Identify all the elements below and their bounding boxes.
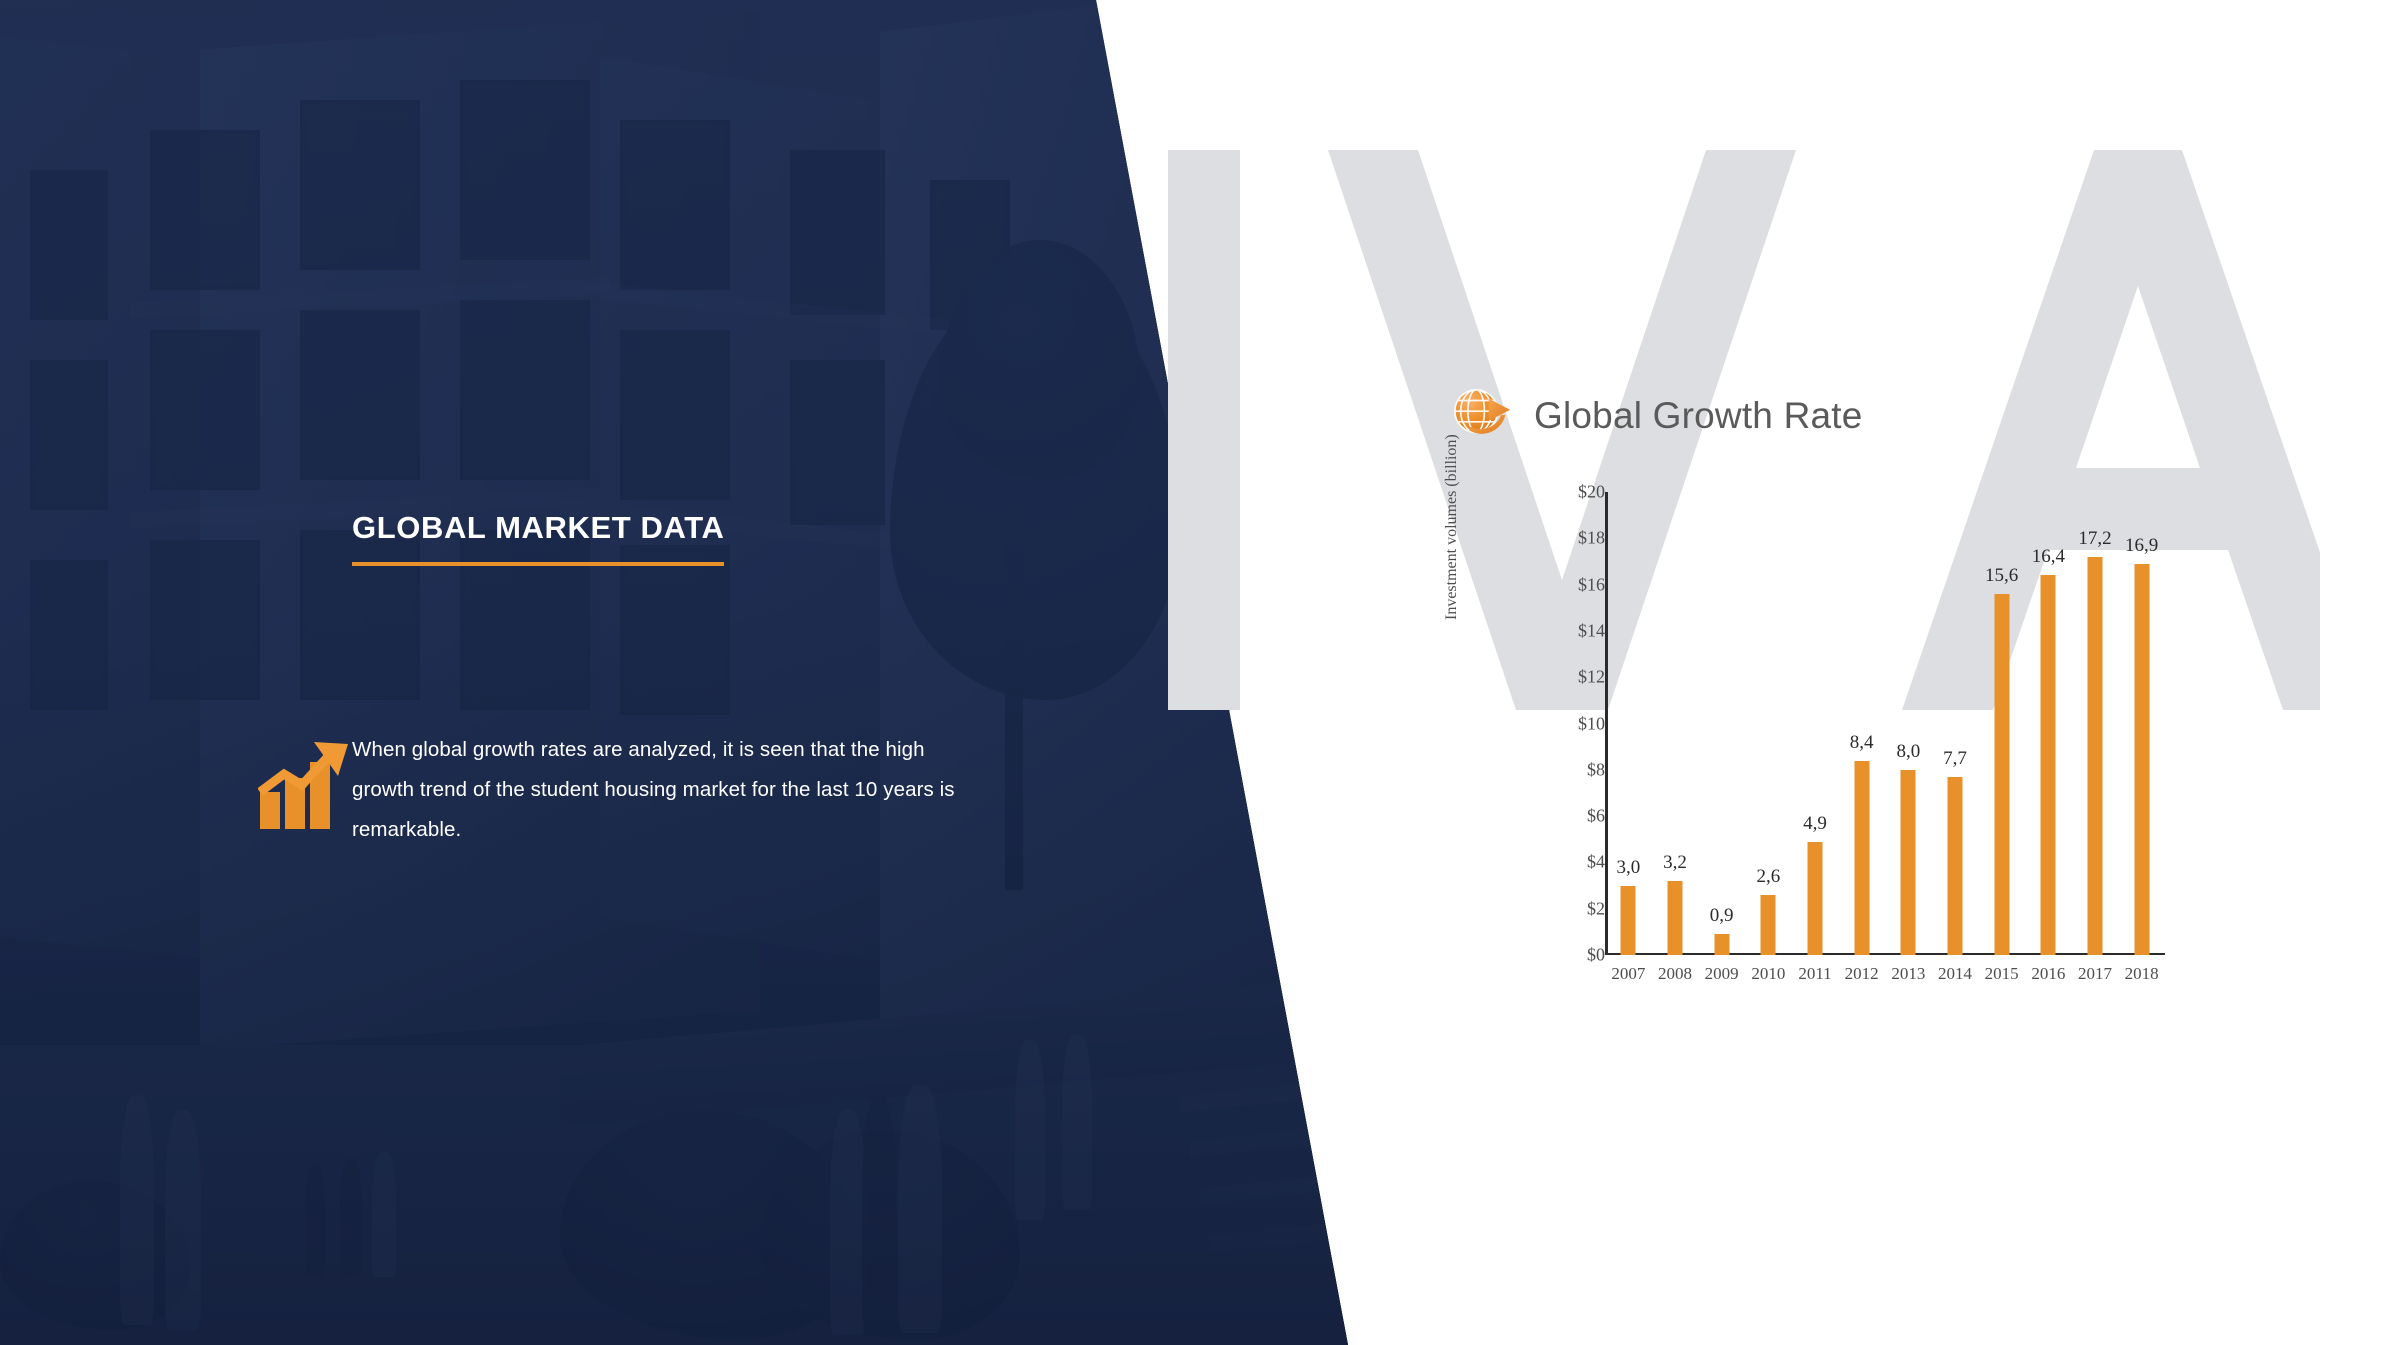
left-content-group: GLOBAL MARKET DATA When global growth ra…: [0, 0, 1100, 1345]
x-tick-label: 2007: [1611, 964, 1645, 984]
bar-slot: 4,9: [1792, 492, 1838, 955]
bar[interactable]: [1854, 761, 1869, 955]
bar-slot: 2,6: [1745, 492, 1791, 955]
bar[interactable]: [1714, 934, 1729, 955]
body-text: When global growth rates are analyzed, i…: [352, 730, 992, 850]
y-tick-label: $18: [1535, 528, 1605, 549]
x-tick-label: 2014: [1938, 964, 1972, 984]
y-tick-label: $4: [1535, 852, 1605, 873]
bar[interactable]: [1948, 777, 1963, 955]
y-tick-label: $14: [1535, 620, 1605, 641]
bar-slot: 16,9: [2119, 492, 2165, 955]
bar-value-label: 8,0: [1896, 741, 1920, 763]
bar-value-label: 15,6: [1985, 565, 2018, 587]
bar[interactable]: [2088, 557, 2103, 955]
bar-value-label: 4,9: [1803, 813, 1827, 835]
x-tick-label: 2011: [1798, 964, 1831, 984]
bar-value-label: 2,6: [1756, 866, 1780, 888]
chart-title: Global Growth Rate: [1534, 395, 1863, 437]
x-tick-label: 2017: [2078, 964, 2112, 984]
bar-value-label: 3,2: [1663, 852, 1687, 874]
body-block: When global growth rates are analyzed, i…: [352, 730, 992, 850]
bar-slot: 16,4: [2025, 492, 2071, 955]
bar-value-label: 7,7: [1943, 748, 1967, 770]
y-tick-label: $2: [1535, 898, 1605, 919]
bar-value-label: 0,9: [1710, 905, 1734, 927]
bar-slot: 7,7: [1932, 492, 1978, 955]
bar-slot: 15,6: [1979, 492, 2025, 955]
bar-slot: 8,0: [1885, 492, 1931, 955]
x-tick-label: 2015: [1985, 964, 2019, 984]
x-tick-label: 2013: [1891, 964, 1925, 984]
bar[interactable]: [1901, 770, 1916, 955]
y-tick-label: $6: [1535, 806, 1605, 827]
plot-area: 3,03,20,92,64,98,48,07,715,616,417,216,9…: [1605, 492, 2165, 955]
bar-value-label: 16,9: [2125, 535, 2158, 557]
bar[interactable]: [1668, 881, 1683, 955]
bar-value-label: 8,4: [1850, 732, 1874, 754]
y-axis-title: Investment volumes (billion): [1443, 434, 1461, 620]
y-tick-label: $16: [1535, 574, 1605, 595]
x-tick-label: 2018: [2125, 964, 2159, 984]
bar-slot: 3,0: [1605, 492, 1651, 955]
x-tick-label: 2009: [1705, 964, 1739, 984]
chart-header: Global Growth Rate: [1450, 385, 1863, 447]
bar-slot: 0,9: [1699, 492, 1745, 955]
x-tick-label: 2010: [1751, 964, 1785, 984]
bar[interactable]: [1761, 895, 1776, 955]
bar-value-label: 17,2: [2078, 528, 2111, 550]
y-tick-label: $10: [1535, 713, 1605, 734]
global-growth-bar-chart: Investment volumes (billion) $0$2$4$6$8$…: [1455, 470, 2195, 990]
y-tick-label: $20: [1535, 482, 1605, 503]
bar-value-label: 3,0: [1616, 857, 1640, 879]
bar-value-label: 16,4: [2032, 546, 2065, 568]
title-underline-rule: [352, 562, 724, 566]
bar[interactable]: [2041, 575, 2056, 955]
bar-slot: 8,4: [1839, 492, 1885, 955]
bar[interactable]: [1621, 886, 1636, 955]
heading-block: GLOBAL MARKET DATA: [352, 510, 732, 566]
slide-canvas: GLOBAL MARKET DATA When global growth ra…: [0, 0, 2399, 1345]
y-tick-label: $8: [1535, 759, 1605, 780]
bar-slot: 3,2: [1652, 492, 1698, 955]
bar[interactable]: [1808, 842, 1823, 955]
bar[interactable]: [2134, 564, 2149, 955]
bar[interactable]: [1994, 594, 2009, 955]
x-tick-label: 2012: [1845, 964, 1879, 984]
page-title: GLOBAL MARKET DATA: [352, 510, 732, 546]
y-tick-label: $12: [1535, 667, 1605, 688]
x-tick-label: 2008: [1658, 964, 1692, 984]
bar-slot: 17,2: [2072, 492, 2118, 955]
x-tick-label: 2016: [2031, 964, 2065, 984]
y-tick-label: $0: [1535, 945, 1605, 966]
growth-bar-chart-arrow-icon: [258, 740, 350, 832]
